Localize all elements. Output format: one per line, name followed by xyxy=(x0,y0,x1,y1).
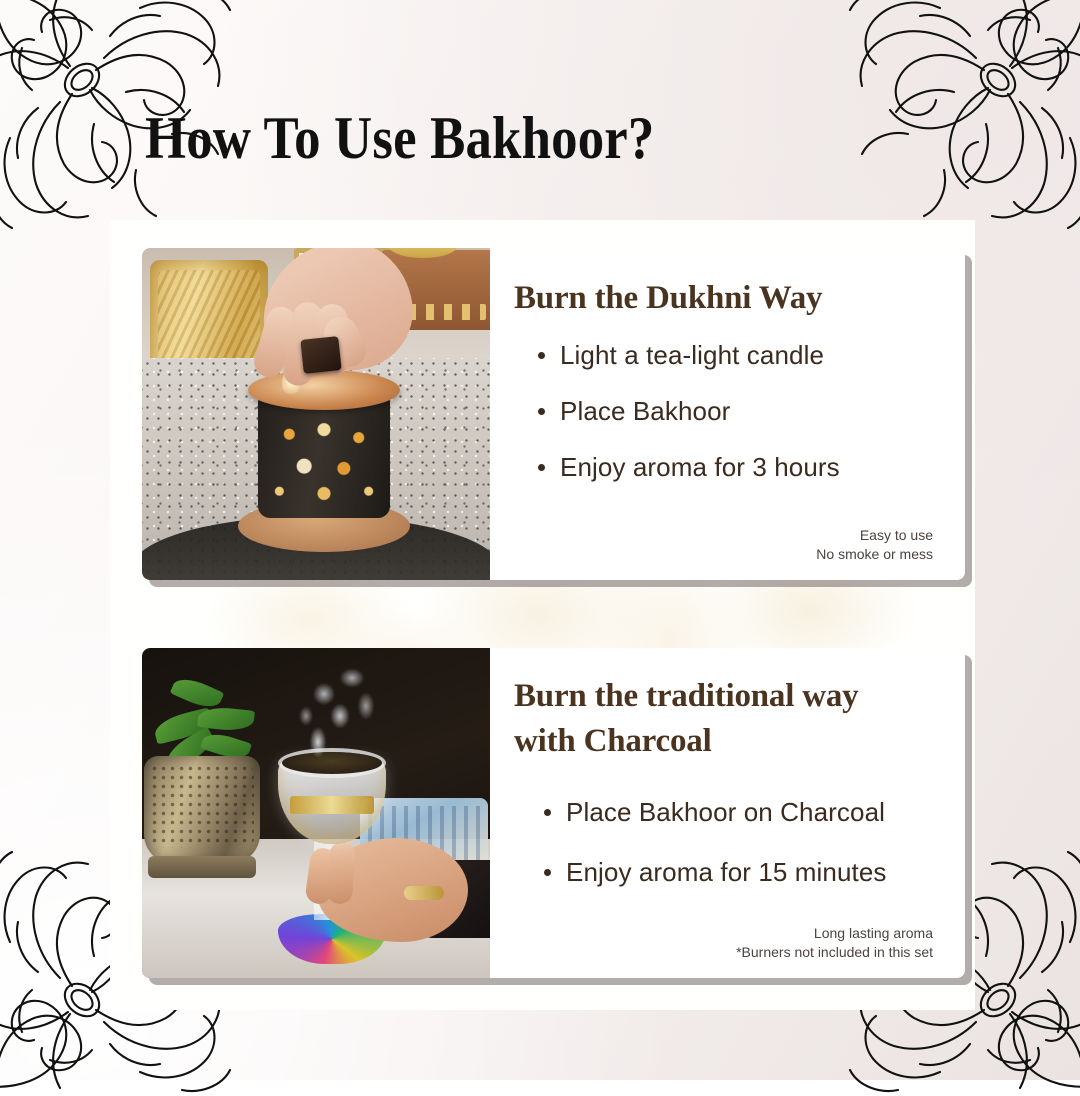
list-item: Enjoy aroma for 3 hours xyxy=(538,451,935,483)
corner-ornament-top-right-icon xyxy=(844,0,1080,234)
step-card-dukhni: Burn the Dukhni Way Light a tea-light ca… xyxy=(142,248,965,580)
step-card-dukhni-body: Burn the Dukhni Way Light a tea-light ca… xyxy=(490,248,965,580)
photo-dukhni-burner xyxy=(142,248,490,580)
card-heading: Burn the traditional way with Charcoal xyxy=(514,674,935,764)
step-card-charcoal-body: Burn the traditional way with Charcoal P… xyxy=(490,648,965,978)
instruction-list: Light a tea-light candle Place Bakhoor E… xyxy=(538,339,935,507)
list-item: Light a tea-light candle xyxy=(538,339,935,371)
instruction-list: Place Bakhoor on Charcoal Enjoy aroma fo… xyxy=(544,796,935,916)
card-heading: Burn the Dukhni Way xyxy=(514,276,935,321)
content-panel: Burn the Dukhni Way Light a tea-light ca… xyxy=(110,220,975,1010)
step-card-charcoal: Burn the traditional way with Charcoal P… xyxy=(142,648,965,978)
poster-canvas: How To Use Bakhoor? xyxy=(0,0,1080,1080)
card-note: Easy to use No smoke or mess xyxy=(514,526,935,566)
page-title: How To Use Bakhoor? xyxy=(145,103,654,173)
list-item: Place Bakhoor xyxy=(538,395,935,427)
card-note: Long lasting aroma *Burners not included… xyxy=(514,924,935,964)
list-item: Enjoy aroma for 15 minutes xyxy=(544,856,935,888)
list-item: Place Bakhoor on Charcoal xyxy=(544,796,935,828)
photo-charcoal-burner xyxy=(142,648,490,978)
